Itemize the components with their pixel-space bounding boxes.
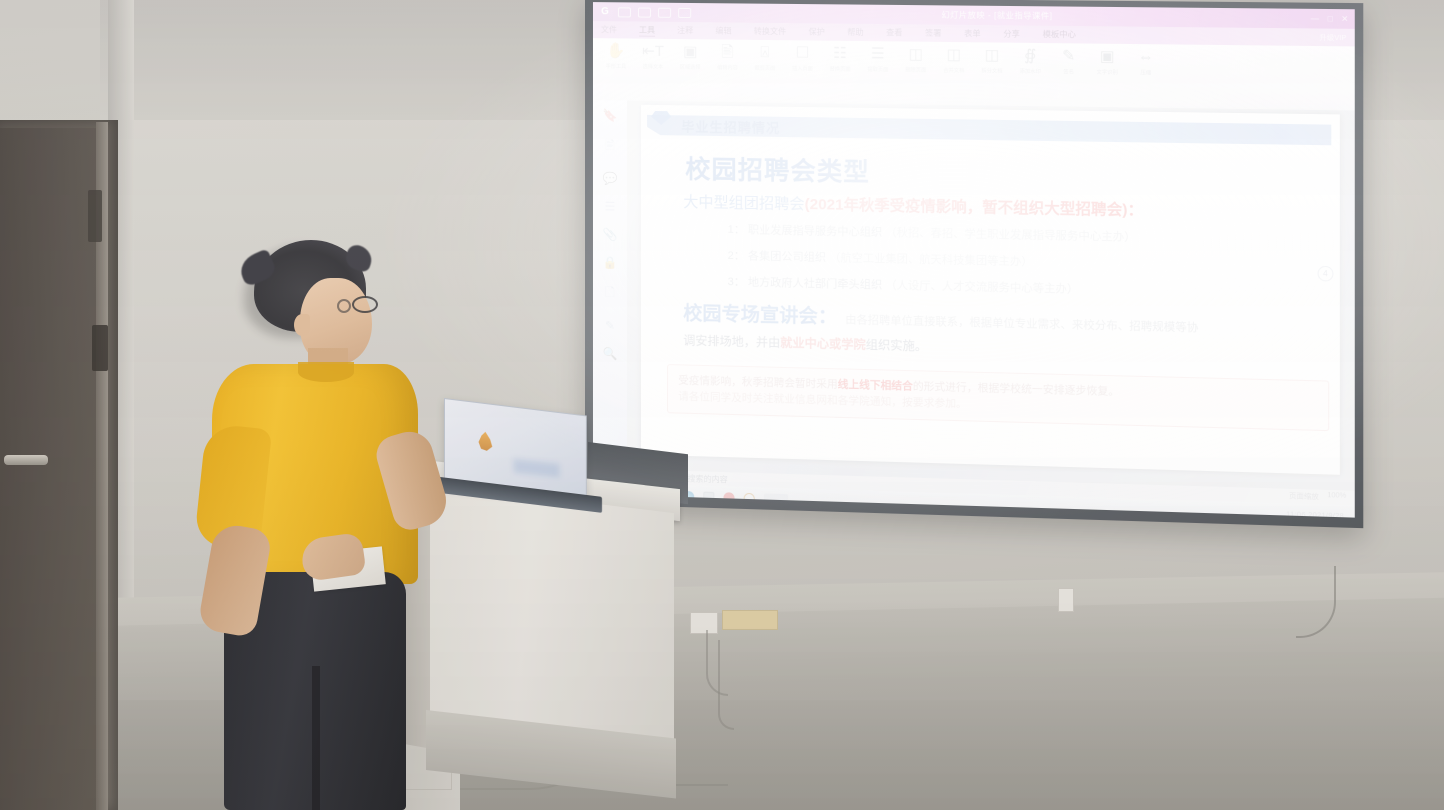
ribbon-tool-text-select[interactable]: ⇤T 选择文本: [636, 43, 670, 71]
app-body: 🔖 🖹 💬 ☰ 📎 🔒 🗋 ✎ 🔍: [593, 100, 1355, 491]
ribbon-tool-ocr[interactable]: ▣ 文字识别: [1089, 48, 1124, 77]
zoom-label: 页面缩放: [1289, 491, 1319, 502]
laptop-screen-glow: [514, 459, 560, 478]
banner-text: 毕业生招聘情况: [681, 116, 780, 137]
item-paren: （人设厅、人才交流服务中心等主办）: [885, 279, 1078, 295]
ribbon-label: 合并文档: [943, 66, 964, 74]
ribbon-tool-delete-page[interactable]: ◫ 删除页面: [898, 45, 933, 74]
split-icon: ◫: [985, 46, 1000, 63]
podium-front: [430, 484, 674, 743]
minimize-icon[interactable]: —: [1311, 14, 1319, 23]
record-icon[interactable]: [723, 492, 734, 503]
page-badge: 4: [1317, 266, 1333, 282]
presenter: [196, 236, 446, 810]
ribbon-tool-signature[interactable]: ✎ 签名: [1051, 47, 1086, 76]
menu-item-share[interactable]: 分享: [1003, 28, 1020, 39]
ribbon-tool-compress[interactable]: ⇔ 压缩: [1128, 48, 1164, 77]
bookmark-icon[interactable]: 🔖: [602, 108, 617, 122]
subheading-text: 校园专场宣讲会：: [683, 298, 837, 329]
note1-a: 受疫情影响，秋季招聘会暂时采用: [678, 374, 837, 390]
laptop-logo-icon: [479, 431, 493, 451]
ribbon-label: 拆分文档: [981, 66, 1002, 74]
app-logo-icon: G: [599, 6, 611, 18]
search-icon[interactable]: 🔍: [602, 346, 617, 360]
ribbon-label: 编辑内容: [717, 63, 738, 71]
ribbon-tool-insert-page[interactable]: ☐ 插入页面: [785, 44, 820, 73]
door-latch-icon: [92, 325, 108, 371]
insert-page-icon: ☐: [796, 44, 810, 61]
note1-red: 线上线下相结合: [838, 378, 913, 392]
comment-icon[interactable]: 💬: [602, 171, 617, 185]
upgrade-vip-button[interactable]: 升级VIP: [1319, 32, 1346, 43]
undo-icon[interactable]: [638, 7, 651, 17]
crop-icon: ⍓: [760, 44, 769, 61]
projection-screen[interactable]: G 幻灯片放映 - [就业指导课件] — □ ✕ 文件 工具: [585, 0, 1363, 528]
item-paren: （秋招、春招、学生职业发展指导服务中心主办）: [885, 227, 1135, 244]
form-icon[interactable]: 🗋: [605, 283, 615, 304]
reader-icon[interactable]: [703, 491, 714, 502]
merge-icon: ◫: [947, 46, 962, 63]
heading-blue-text: 大中型组团招聘会: [683, 194, 804, 213]
zoom-level[interactable]: 100%: [1327, 492, 1346, 503]
menu-item-template-center[interactable]: 模板中心: [1043, 29, 1076, 41]
ribbon-label: 裁剪页面: [755, 64, 776, 72]
document-pane[interactable]: 毕业生招聘情况 校园招聘会类型 大中型组团招聘会(2021年秋季受疫情影响，暂不…: [627, 101, 1355, 491]
page-edit-icon: 🖹: [721, 44, 733, 61]
glasses-icon: [352, 296, 378, 313]
subheading-tail-text: 由各招聘单位直接联系，根据单位专业需求、来校分布、招聘规模等协: [845, 311, 1198, 335]
ribbon-label: 文字识别: [1096, 68, 1117, 76]
ribbon-label: 提取页面: [867, 65, 888, 73]
taskbar-window-button[interactable]: [764, 493, 788, 504]
ribbon-label: 替换页面: [830, 65, 851, 73]
snapshot-icon: ▣: [683, 43, 697, 60]
text-select-icon: ⇤T: [642, 43, 664, 60]
window-title: 幻灯片放映 - [就业指导课件]: [698, 7, 1303, 24]
menu-item-file[interactable]: 文件: [601, 24, 617, 35]
item-number: 3：: [728, 276, 745, 288]
ribbon-tool-hand[interactable]: ✋ 手形工具: [599, 42, 633, 70]
ocr-icon: ▣: [1100, 48, 1115, 66]
slide-banner: 毕业生招聘情况: [641, 109, 1340, 154]
slide-page: 毕业生招聘情况 校园招聘会类型 大中型组团招聘会(2021年秋季受疫情影响，暂不…: [641, 105, 1340, 475]
ribbon-label: 签名: [1063, 67, 1074, 75]
menu-item-form[interactable]: 表单: [964, 28, 980, 39]
ribbon-tool-merge[interactable]: ◫ 合并文档: [936, 46, 971, 75]
item-paren: （航空工业集团、航天科技集团等主办）: [829, 252, 1032, 268]
hand-tool-icon: ✋: [607, 42, 626, 59]
attachment-icon[interactable]: 📎: [602, 227, 617, 241]
line2-part-b: 组织实施。: [866, 338, 927, 354]
menu-item-comment[interactable]: 注释: [677, 25, 693, 36]
ribbon-label: 插入页面: [792, 64, 813, 72]
extract-page-icon: ☰: [871, 45, 885, 62]
ribbon-label: 删除页面: [905, 66, 926, 74]
app-ribbon[interactable]: ✋ 手形工具 ⇤T 选择文本 ▣ 区域选择 🖹 编辑内容: [593, 38, 1355, 110]
wall-outlet-panel[interactable]: [722, 610, 778, 630]
replace-page-icon: ☷: [833, 45, 847, 62]
wall-switch[interactable]: [1058, 588, 1074, 612]
ribbon-tool-replace-page[interactable]: ☷ 替换页面: [823, 45, 858, 74]
signature-icon: ✎: [1062, 47, 1075, 65]
print-icon[interactable]: [678, 7, 691, 17]
menu-item-edit[interactable]: 编辑: [715, 25, 731, 36]
redo-icon[interactable]: [658, 7, 671, 17]
layers-icon[interactable]: ☰: [605, 199, 616, 213]
menu-item-help[interactable]: 帮助: [847, 27, 863, 38]
list-item: 3： 地方政府人社部门牵头组织 （人设厅、人才交流服务中心等主办）: [728, 273, 1340, 302]
pants-seam: [312, 666, 320, 810]
door-handle[interactable]: [4, 455, 48, 465]
app-sidebar[interactable]: 🔖 🖹 💬 ☰ 📎 🔒 🗋 ✎ 🔍: [593, 100, 627, 469]
maximize-icon[interactable]: □: [1328, 14, 1333, 23]
delete-page-icon: ◫: [909, 46, 924, 63]
slide-item-list: 1： 职业发展指导服务中心组织 （秋招、春招、学生职业发展指导服务中心主办） 2…: [728, 221, 1340, 303]
ribbon-label: 选择文本: [643, 62, 663, 70]
menu-item-view[interactable]: 查看: [886, 27, 902, 38]
menu-item-convert[interactable]: 转换文件: [754, 26, 786, 37]
glasses-icon: [337, 299, 351, 313]
slide-heading-line: 大中型组团招聘会(2021年秋季受疫情影响，暂不组织大型招聘会)：: [683, 191, 1340, 224]
item-main: 职业发展指导服务中心组织: [748, 224, 882, 239]
list-item: 2： 各集团公司组织 （航空工业集团、航天科技集团等主办）: [728, 247, 1340, 276]
compress-icon: ⇔: [1138, 48, 1154, 66]
thumbnail-icon[interactable]: 🖹: [605, 136, 615, 157]
ribbon-label: 区域选择: [680, 63, 701, 71]
zoom-group[interactable]: 页面缩放 100%: [1289, 491, 1346, 503]
line2-part-a: 调安排场地，并由: [683, 333, 780, 349]
menu-item-sign[interactable]: 签署: [925, 28, 941, 39]
ribbon-tool-extract-page[interactable]: ☰ 提取页面: [861, 45, 896, 74]
ribbon-label: 手形工具: [606, 62, 626, 70]
item-main: 地方政府人社部门牵头组织: [748, 276, 882, 291]
ribbon-tool-crop[interactable]: ⍓ 裁剪页面: [748, 44, 782, 73]
save-icon[interactable]: [618, 7, 631, 17]
menu-item-protect[interactable]: 保护: [809, 26, 825, 37]
window-controls[interactable]: — □ ✕: [1311, 14, 1349, 24]
signature-icon[interactable]: ✎: [605, 318, 615, 332]
ribbon-tool-snapshot[interactable]: ▣ 区域选择: [673, 43, 707, 72]
laptop[interactable]: [430, 398, 595, 503]
close-icon[interactable]: ✕: [1341, 14, 1348, 23]
slide-title: 校园招聘会类型: [685, 150, 1339, 197]
ear: [294, 314, 310, 336]
screen-surface[interactable]: G 幻灯片放映 - [就业指导课件] — □ ✕ 文件 工具: [593, 2, 1355, 518]
line2-red-text: 就业中心或学院: [780, 336, 866, 352]
ribbon-tool-split[interactable]: ◫ 拆分文档: [974, 46, 1009, 75]
list-item: 1： 职业发展指导服务中心组织 （秋招、春招、学生职业发展指导服务中心主办）: [728, 221, 1340, 249]
ribbon-label: 压缩: [1140, 68, 1151, 76]
item-main: 各集团公司组织: [748, 250, 826, 264]
slide-note-box: 受疫情影响，秋季招聘会暂时采用线上线下相结合的形式进行，根据学校统一安排逐步恢复…: [667, 364, 1329, 431]
shirt-collar: [298, 362, 354, 382]
ribbon-label: 添加水印: [1020, 67, 1041, 75]
taskbar-clock[interactable]: 11:06 2021/9/28: [1286, 511, 1344, 518]
ribbon-tool-page-edit[interactable]: 🖹 编辑内容: [710, 43, 744, 72]
door-panel[interactable]: [0, 128, 96, 810]
heading-red-text: (2021年秋季受疫情影响，暂不组织大型招聘会)：: [805, 196, 1144, 219]
door-lock-icon: [88, 190, 102, 242]
item-number: 1：: [728, 224, 745, 236]
ribbon-tool-watermark[interactable]: ∯ 添加水印: [1013, 47, 1048, 76]
office-icon[interactable]: [744, 492, 755, 503]
watermark-icon: ∯: [1024, 47, 1036, 64]
menu-item-tools[interactable]: 工具: [639, 24, 655, 36]
stamp-icon[interactable]: 🔒: [602, 255, 617, 269]
lecture-room: G 幻灯片放映 - [就业指导课件] — □ ✕ 文件 工具: [0, 0, 1444, 810]
item-number: 2：: [728, 250, 745, 262]
screen-bezel: G 幻灯片放映 - [就业指导课件] — □ ✕ 文件 工具: [585, 0, 1363, 528]
